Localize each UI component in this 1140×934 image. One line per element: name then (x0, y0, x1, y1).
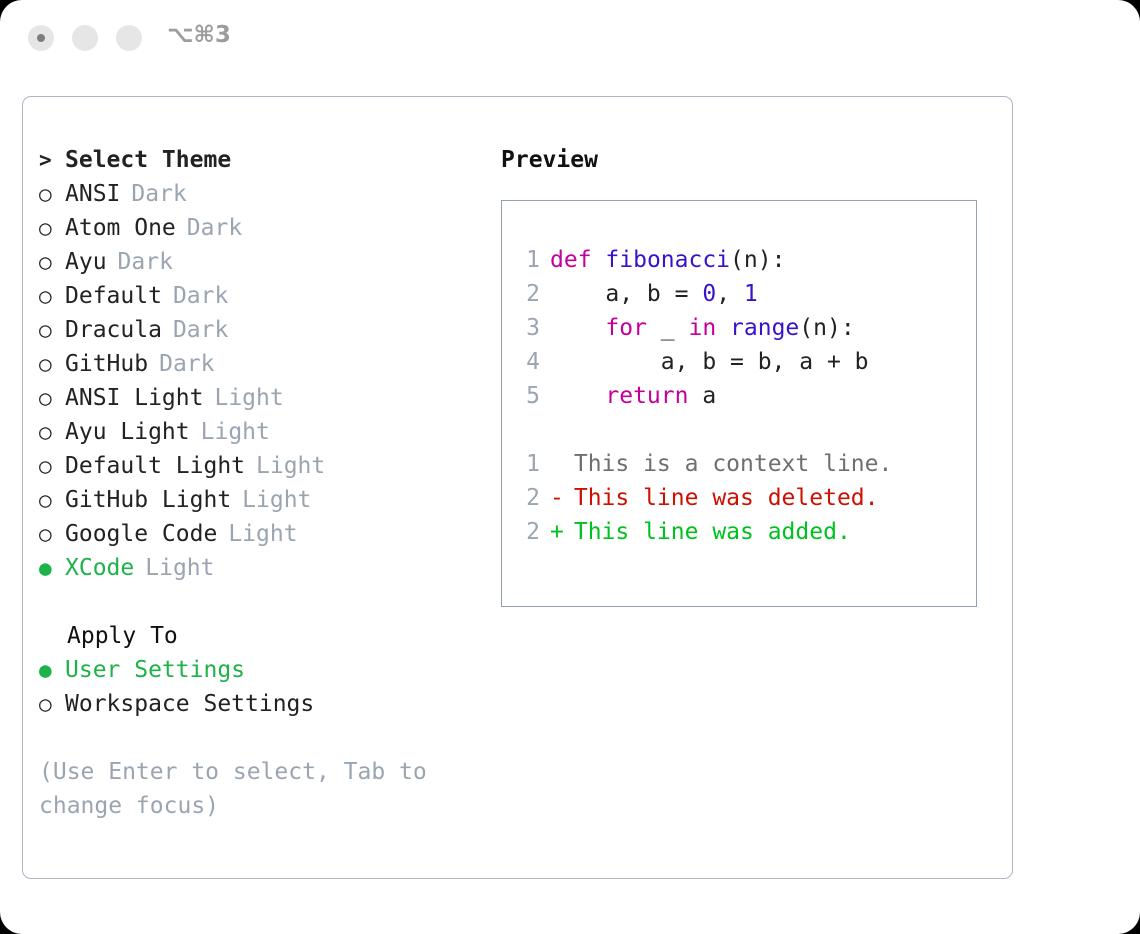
code-token-pl: _ (647, 315, 689, 341)
theme-item-kind: Dark (131, 181, 186, 207)
theme-item-kind: Light (214, 385, 283, 411)
code-token-kw: in (688, 315, 716, 341)
diff-line-number: 1 (516, 447, 540, 481)
theme-item-ansi[interactable]: ○ANSIDark (39, 177, 489, 211)
code-token-pl: , (716, 281, 744, 307)
radio-unselected-icon: ○ (39, 687, 65, 721)
theme-item-default-light[interactable]: ○Default LightLight (39, 449, 489, 483)
diff-text: This is a context line. (560, 451, 892, 477)
radio-unselected-icon: ○ (39, 313, 65, 347)
radio-unselected-icon: ○ (39, 381, 65, 415)
keyboard-hint: (Use Enter to select, Tab to change focu… (39, 755, 439, 823)
apply-to-option-label: Workspace Settings (65, 691, 314, 717)
diff-line-ctx: 1 This is a context line. (516, 447, 970, 481)
code-diff-gap (516, 413, 970, 447)
code-line-number: 5 (516, 379, 540, 413)
theme-item-kind: Dark (118, 249, 173, 275)
select-theme-header: >Select Theme (39, 143, 489, 177)
traffic-light-second[interactable] (72, 25, 98, 51)
diff-sign: + (550, 515, 560, 549)
theme-item-google-code[interactable]: ○Google CodeLight (39, 517, 489, 551)
apply-to-option-workspace-settings[interactable]: ○Workspace Settings (39, 687, 489, 721)
prompt-caret-icon: > (39, 143, 65, 177)
diff-line-number: 2 (516, 515, 540, 549)
theme-item-label: Default (65, 283, 162, 309)
theme-item-label: Ayu (65, 249, 107, 275)
radio-unselected-icon: ○ (39, 279, 65, 313)
code-token-fn: range (730, 315, 799, 341)
preview-column: Preview 1def fibonacci(n):2 a, b = 0, 13… (501, 143, 996, 607)
theme-item-label: ANSI (65, 181, 120, 207)
list-spacer (39, 585, 489, 619)
window-titlebar: ⌥⌘3 (0, 0, 1140, 78)
code-line: 1def fibonacci(n): (516, 243, 970, 277)
diff-line-add: 2+ This line was added. (516, 515, 970, 549)
theme-item-label: GitHub Light (65, 487, 231, 513)
code-token-pl (592, 247, 606, 273)
code-line-number: 1 (516, 243, 540, 277)
apply-to-title: Apply To (39, 619, 489, 653)
code-token-kw: def (550, 247, 592, 273)
theme-item-atom-one[interactable]: ○Atom OneDark (39, 211, 489, 245)
theme-item-kind: Dark (173, 317, 228, 343)
code-token-num: 0 (702, 281, 716, 307)
code-line: 4 a, b = b, a + b (516, 345, 970, 379)
radio-unselected-icon: ○ (39, 483, 65, 517)
radio-selected-icon: ● (39, 551, 65, 585)
code-token-pl: a (688, 383, 716, 409)
radio-unselected-icon: ○ (39, 245, 65, 279)
radio-unselected-icon: ○ (39, 415, 65, 449)
diff-line-del: 2- This line was deleted. (516, 481, 970, 515)
code-token-pl: (n): (730, 247, 785, 273)
theme-item-label: Dracula (65, 317, 162, 343)
apply-to-option-label: User Settings (65, 657, 245, 683)
theme-item-kind: Light (242, 487, 311, 513)
traffic-light-active[interactable] (28, 25, 54, 51)
theme-item-label: Atom One (65, 215, 176, 241)
theme-item-default[interactable]: ○DefaultDark (39, 279, 489, 313)
apply-to-option-user-settings[interactable]: ●User Settings (39, 653, 489, 687)
diff-text: This line was added. (560, 519, 851, 545)
diff-text: This line was deleted. (560, 485, 879, 511)
radio-unselected-icon: ○ (39, 517, 65, 551)
code-line: 5 return a (516, 379, 970, 413)
keyboard-shortcut-label: ⌥⌘3 (167, 22, 231, 48)
theme-list: ○ANSIDark○Atom OneDark○AyuDark○DefaultDa… (39, 177, 489, 585)
code-line-number: 2 (516, 277, 540, 311)
code-line: 3 for _ in range(n): (516, 311, 970, 345)
diff-sign: - (550, 481, 560, 515)
code-token-pl (716, 315, 730, 341)
select-theme-header-label: Select Theme (65, 147, 231, 173)
theme-item-kind: Dark (173, 283, 228, 309)
code-line-number: 3 (516, 311, 540, 345)
theme-item-kind: Light (228, 521, 297, 547)
code-token-kw: return (605, 383, 688, 409)
radio-selected-icon: ● (39, 653, 65, 687)
theme-item-ayu[interactable]: ○AyuDark (39, 245, 489, 279)
code-token-pl (550, 315, 605, 341)
code-token-pl: a, b = (550, 281, 702, 307)
theme-item-kind: Light (145, 555, 214, 581)
theme-item-kind: Dark (187, 215, 242, 241)
theme-item-label: Ayu Light (65, 419, 190, 445)
theme-item-label: ANSI Light (65, 385, 203, 411)
diff-sign (550, 447, 560, 481)
preview-code-box: 1def fibonacci(n):2 a, b = 0, 13 for _ i… (501, 200, 977, 607)
theme-item-kind: Light (201, 419, 270, 445)
theme-item-xcode[interactable]: ●XCodeLight (39, 551, 489, 585)
code-token-fn: fibonacci (605, 247, 730, 273)
theme-item-label: XCode (65, 555, 134, 581)
theme-item-label: Google Code (65, 521, 217, 547)
preview-title: Preview (501, 143, 996, 177)
radio-unselected-icon: ○ (39, 347, 65, 381)
diff-line-number: 2 (516, 481, 540, 515)
theme-picker-panel: >Select Theme ○ANSIDark○Atom OneDark○Ayu… (22, 96, 1013, 879)
traffic-light-buttons (28, 25, 142, 51)
code-token-num: 1 (744, 281, 758, 307)
diff-sample: 1 This is a context line.2- This line wa… (516, 447, 970, 549)
radio-unselected-icon: ○ (39, 177, 65, 211)
theme-item-github-light[interactable]: ○GitHub LightLight (39, 483, 489, 517)
theme-item-github[interactable]: ○GitHubDark (39, 347, 489, 381)
radio-unselected-icon: ○ (39, 211, 65, 245)
code-token-pl: a, b = b, a + b (550, 349, 869, 375)
terminal-window: ⌥⌘3 >Select Theme ○ANSIDark○Atom OneDark… (0, 0, 1140, 934)
code-token-kw: for (605, 315, 647, 341)
theme-selection-column: >Select Theme ○ANSIDark○Atom OneDark○Ayu… (39, 143, 489, 823)
radio-unselected-icon: ○ (39, 449, 65, 483)
code-line: 2 a, b = 0, 1 (516, 277, 970, 311)
theme-item-kind: Light (256, 453, 325, 479)
apply-to-options: ●User Settings○Workspace Settings (39, 653, 489, 721)
theme-item-kind: Dark (159, 351, 214, 377)
code-token-pl (550, 383, 605, 409)
code-sample: 1def fibonacci(n):2 a, b = 0, 13 for _ i… (516, 243, 970, 413)
code-line-number: 4 (516, 345, 540, 379)
theme-item-label: GitHub (65, 351, 148, 377)
theme-item-ayu-light[interactable]: ○Ayu LightLight (39, 415, 489, 449)
code-token-pl: (n): (799, 315, 854, 341)
traffic-light-third[interactable] (116, 25, 142, 51)
theme-item-label: Default Light (65, 453, 245, 479)
theme-item-ansi-light[interactable]: ○ANSI LightLight (39, 381, 489, 415)
theme-item-dracula[interactable]: ○DraculaDark (39, 313, 489, 347)
traffic-light-active-dot (37, 34, 45, 42)
